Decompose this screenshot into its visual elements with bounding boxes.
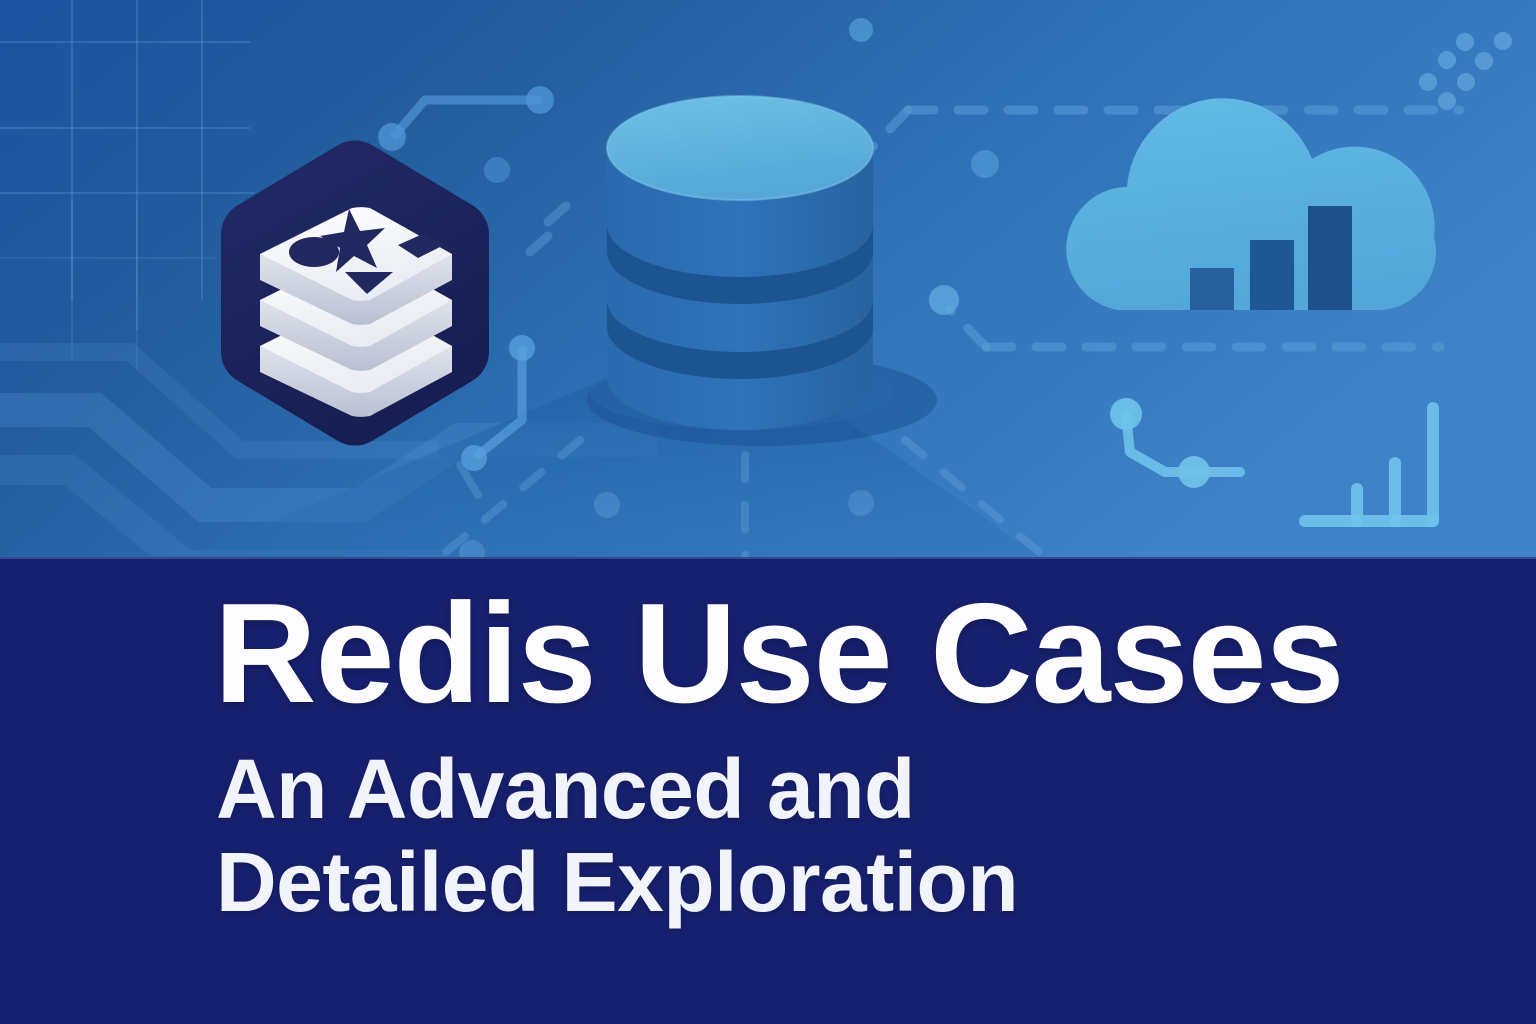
band-divider: [0, 557, 1536, 559]
circuit-dot-c: [929, 285, 959, 315]
page-subtitle-line-2: Detailed Exploration: [216, 840, 1018, 924]
circuit-dot-a: [484, 157, 510, 183]
circuit-dot-b: [971, 150, 999, 178]
page-title: Redis Use Cases: [214, 583, 1344, 725]
cloud-bar-2: [1250, 240, 1294, 318]
database-cylinder-icon: [607, 96, 873, 430]
page-subtitle-line-1: An Advanced and: [216, 747, 915, 831]
circuit-dot-d: [849, 18, 873, 42]
cloud-bar-3: [1308, 206, 1352, 318]
hero-illustration: [0, 0, 1536, 557]
banner-root: Redis Use Cases An Advanced and Detailed…: [0, 0, 1536, 1024]
hero-graphics: [0, 0, 1536, 557]
